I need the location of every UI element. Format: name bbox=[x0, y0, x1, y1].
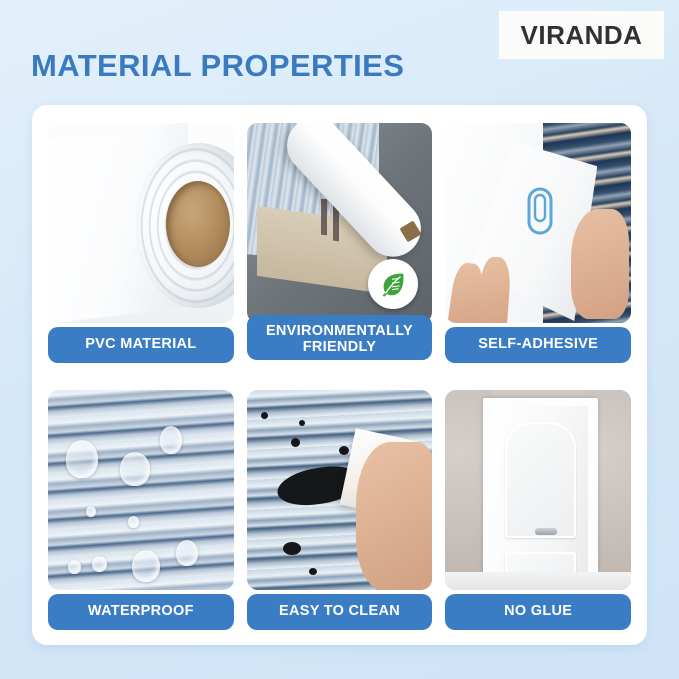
paperclip-icon bbox=[523, 185, 557, 242]
feature-cell-pvc-material: PVC MATERIAL bbox=[48, 123, 234, 363]
white-door-photo bbox=[445, 390, 631, 590]
water-droplets-photo bbox=[48, 390, 234, 590]
water-drop-shape bbox=[86, 506, 96, 517]
brand-badge: VIRANDA bbox=[500, 12, 663, 58]
feature-label-easy-to-clean: EASY TO CLEAN bbox=[247, 594, 433, 630]
hand-shape bbox=[571, 209, 629, 319]
stain-spot-shape bbox=[291, 438, 300, 447]
water-drop-shape bbox=[160, 426, 182, 454]
stain-spot-shape bbox=[283, 542, 301, 555]
feature-label-pvc-material: PVC MATERIAL bbox=[48, 327, 234, 363]
page-title: MATERIAL PROPERTIES bbox=[31, 48, 404, 84]
leaf-icon bbox=[368, 259, 418, 309]
brand-name: VIRANDA bbox=[521, 20, 643, 51]
features-card: PVC MATERIAL ENVIRON bbox=[32, 105, 647, 645]
feature-cell-environmentally-friendly: ENVIRONMENTALLY FRIENDLY bbox=[247, 123, 433, 363]
feature-label-no-glue: NO GLUE bbox=[445, 594, 631, 630]
post-shape bbox=[321, 199, 327, 236]
water-drop-shape bbox=[68, 560, 81, 574]
water-drop-shape bbox=[176, 540, 198, 566]
pvc-roll-photo bbox=[48, 123, 234, 323]
feature-label-self-adhesive: SELF-ADHESIVE bbox=[445, 327, 631, 363]
feature-label-environmentally-friendly: ENVIRONMENTALLY FRIENDLY bbox=[247, 315, 433, 360]
feature-cell-no-glue: NO GLUE bbox=[445, 390, 631, 630]
stain-spot-shape bbox=[261, 412, 268, 419]
door-handle-shape bbox=[535, 528, 557, 535]
water-drop-shape bbox=[132, 550, 160, 582]
features-grid: PVC MATERIAL ENVIRON bbox=[48, 123, 631, 630]
water-drop-shape bbox=[120, 452, 150, 486]
water-drop-shape bbox=[66, 440, 98, 478]
feature-cell-self-adhesive: SELF-ADHESIVE bbox=[445, 123, 631, 363]
hands-peeling-sheet-photo bbox=[445, 123, 631, 323]
wiping-stain-photo bbox=[247, 390, 433, 590]
feature-cell-easy-to-clean: EASY TO CLEAN bbox=[247, 390, 433, 630]
water-drop-shape bbox=[128, 516, 139, 528]
roll-core-shape bbox=[166, 181, 230, 267]
stain-spot-shape bbox=[299, 420, 305, 426]
roll-tip-shape bbox=[399, 220, 421, 242]
wallpaper-peel-photo bbox=[247, 123, 433, 323]
feature-cell-waterproof: WATERPROOF bbox=[48, 390, 234, 630]
water-drop-shape bbox=[92, 556, 107, 572]
feature-label-waterproof: WATERPROOF bbox=[48, 594, 234, 630]
hand-shape bbox=[356, 442, 432, 590]
stain-spot-shape bbox=[309, 568, 317, 575]
door-shape bbox=[493, 406, 588, 590]
baseboard-shape bbox=[445, 572, 631, 590]
door-panel-top-shape bbox=[505, 422, 576, 538]
stain-spot-shape bbox=[339, 446, 349, 455]
